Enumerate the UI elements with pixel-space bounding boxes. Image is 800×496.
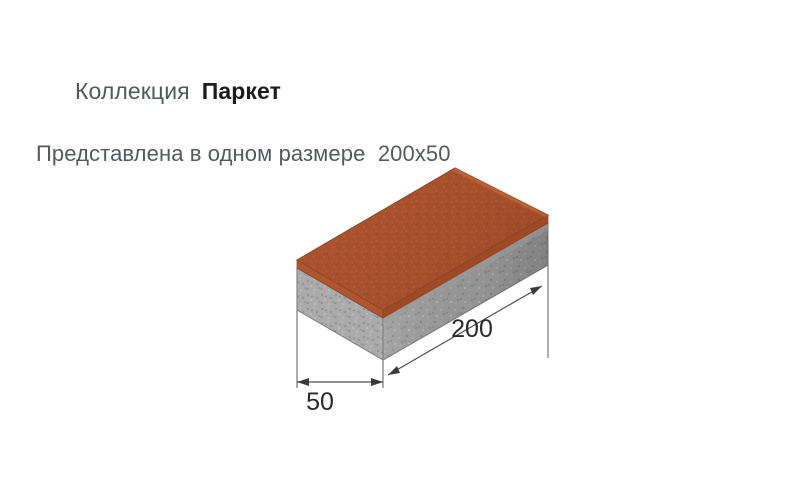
dimension-50: 50 — [297, 378, 383, 416]
dimension-50-arrow-right — [371, 378, 383, 386]
page-root: КоллекцияПаркет Представлена в одном раз… — [0, 0, 800, 496]
dimension-50-arrow-left — [297, 378, 309, 386]
dimension-200-label: 200 — [451, 315, 493, 343]
paving-stone-illustration: 200 50 — [250, 110, 650, 440]
dimension-50-label: 50 — [306, 388, 334, 416]
collection-name: Паркет — [202, 78, 281, 104]
dimension-200-arrow-right — [530, 286, 542, 295]
dimension-200-arrow-left — [388, 366, 400, 375]
block-3d-solid — [297, 168, 548, 360]
collection-label: Коллекция — [75, 78, 190, 104]
